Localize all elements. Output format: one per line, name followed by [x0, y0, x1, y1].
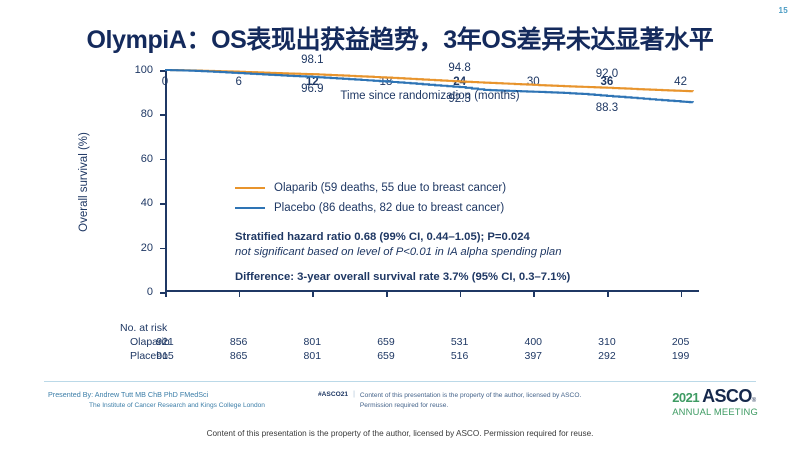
risk-cell: 531: [451, 336, 469, 348]
registered-trademark-icon: ®: [752, 398, 756, 404]
slide-number: 15: [779, 6, 789, 15]
number-at-risk-table: No. at risk Olaparib92185680165953140031…: [120, 322, 720, 374]
risk-cell: 801: [304, 336, 322, 348]
x-tick: [681, 292, 683, 297]
y-axis-title: Overall survival (%): [78, 132, 90, 232]
x-axis-title: Time since randomization (months): [340, 90, 519, 102]
risk-cell: 915: [156, 350, 174, 362]
risk-cell: 310: [598, 336, 616, 348]
page-title: OlympiA：OS表现出获益趋势，3年OS差异未达显著水平: [0, 20, 800, 56]
data-label-placebo-12: 96.9: [301, 83, 323, 95]
risk-cell: 397: [525, 350, 543, 362]
hazard-ratio-text: Stratified hazard ratio 0.68 (99% CI, 0.…: [235, 230, 655, 245]
presenter-name: Andrew Tutt MB ChB PhD FMedSci: [95, 390, 208, 399]
asco-logo-wordmark: ASCO: [702, 387, 752, 405]
x-tick: [533, 292, 535, 297]
data-label-olaparib-24: 94.8: [448, 62, 470, 74]
conference-hashtag: #ASCO21: [318, 391, 348, 398]
asco-logo: 2021 ASCO ® ANNUAL MEETING: [672, 387, 758, 417]
license-text: Content of this presentation is the prop…: [360, 391, 581, 410]
presented-by-label: Presented By:: [48, 390, 93, 399]
risk-cell: 865: [230, 350, 248, 362]
asco-logo-subtitle: ANNUAL MEETING: [672, 406, 758, 417]
risk-cell: 856: [230, 336, 248, 348]
x-tick: [239, 292, 241, 297]
data-label-placebo-36: 88.3: [596, 102, 618, 114]
data-label-olaparib-12: 98.1: [301, 54, 323, 66]
risk-cell: 516: [451, 350, 469, 362]
y-tick-label: 0: [147, 286, 153, 298]
y-tick-label: 20: [141, 242, 153, 254]
significance-note-text: not significant based on level of P<0.01…: [235, 245, 655, 260]
y-tick-label: 100: [135, 64, 153, 76]
x-tick: [607, 292, 609, 297]
risk-table-title: No. at risk: [120, 322, 167, 334]
presenter-info: Presented By: Andrew Tutt MB ChB PhD FMe…: [48, 389, 265, 411]
legend-swatch-icon: [235, 187, 265, 190]
presenter-name-line: Presented By: Andrew Tutt MB ChB PhD FMe…: [48, 389, 265, 400]
legend-item-olaparib: Olaparib (59 deaths, 55 due to breast ca…: [235, 178, 506, 198]
license-line-2: Permission required for reuse.: [360, 402, 448, 409]
risk-cell: 205: [672, 336, 690, 348]
risk-cell: 659: [377, 336, 395, 348]
x-tick: [165, 292, 167, 297]
legend-item-placebo: Placebo (86 deaths, 82 due to breast can…: [235, 198, 506, 218]
asco-logo-top: 2021 ASCO ®: [672, 387, 758, 405]
legend-label: Olaparib (59 deaths, 55 due to breast ca…: [274, 182, 506, 194]
license-block: #ASCO21 | Content of this presentation i…: [318, 391, 581, 410]
legend-label: Placebo (86 deaths, 82 due to breast can…: [274, 202, 504, 214]
y-tick-label: 60: [141, 153, 153, 165]
statistics-block: Stratified hazard ratio 0.68 (99% CI, 0.…: [235, 230, 655, 285]
risk-cell: 199: [672, 350, 690, 362]
x-tick: [386, 292, 388, 297]
risk-cell: 659: [377, 350, 395, 362]
plot-frame: 020406080100 06121824303642 98.196.994.8…: [165, 70, 695, 292]
data-label-olaparib-36: 92.0: [596, 68, 618, 80]
asco-logo-year: 2021: [672, 391, 699, 404]
risk-cell: 292: [598, 350, 616, 362]
difference-text: Difference: 3-year overall survival rate…: [235, 270, 655, 285]
footer-divider: [44, 381, 756, 382]
kaplan-meier-chart: Overall survival (%) 020406080100 061218…: [120, 62, 710, 302]
x-tick: [312, 292, 314, 297]
y-tick-label: 80: [141, 108, 153, 120]
presenter-affiliation: The Institute of Cancer Research and Kin…: [89, 400, 265, 411]
bottom-copyright: Content of this presentation is the prop…: [0, 429, 800, 438]
x-tick: [460, 292, 462, 297]
risk-cell: 921: [156, 336, 174, 348]
separator-icon: |: [353, 391, 355, 398]
license-line-1: Content of this presentation is the prop…: [360, 392, 581, 399]
risk-cell: 801: [304, 350, 322, 362]
y-tick-label: 40: [141, 197, 153, 209]
risk-cell: 400: [525, 336, 543, 348]
slide-root: 15 OlympiA：OS表现出获益趋势，3年OS差异未达显著水平 Overal…: [0, 0, 800, 450]
chart-legend: Olaparib (59 deaths, 55 due to breast ca…: [235, 178, 506, 218]
legend-swatch-icon: [235, 207, 265, 210]
